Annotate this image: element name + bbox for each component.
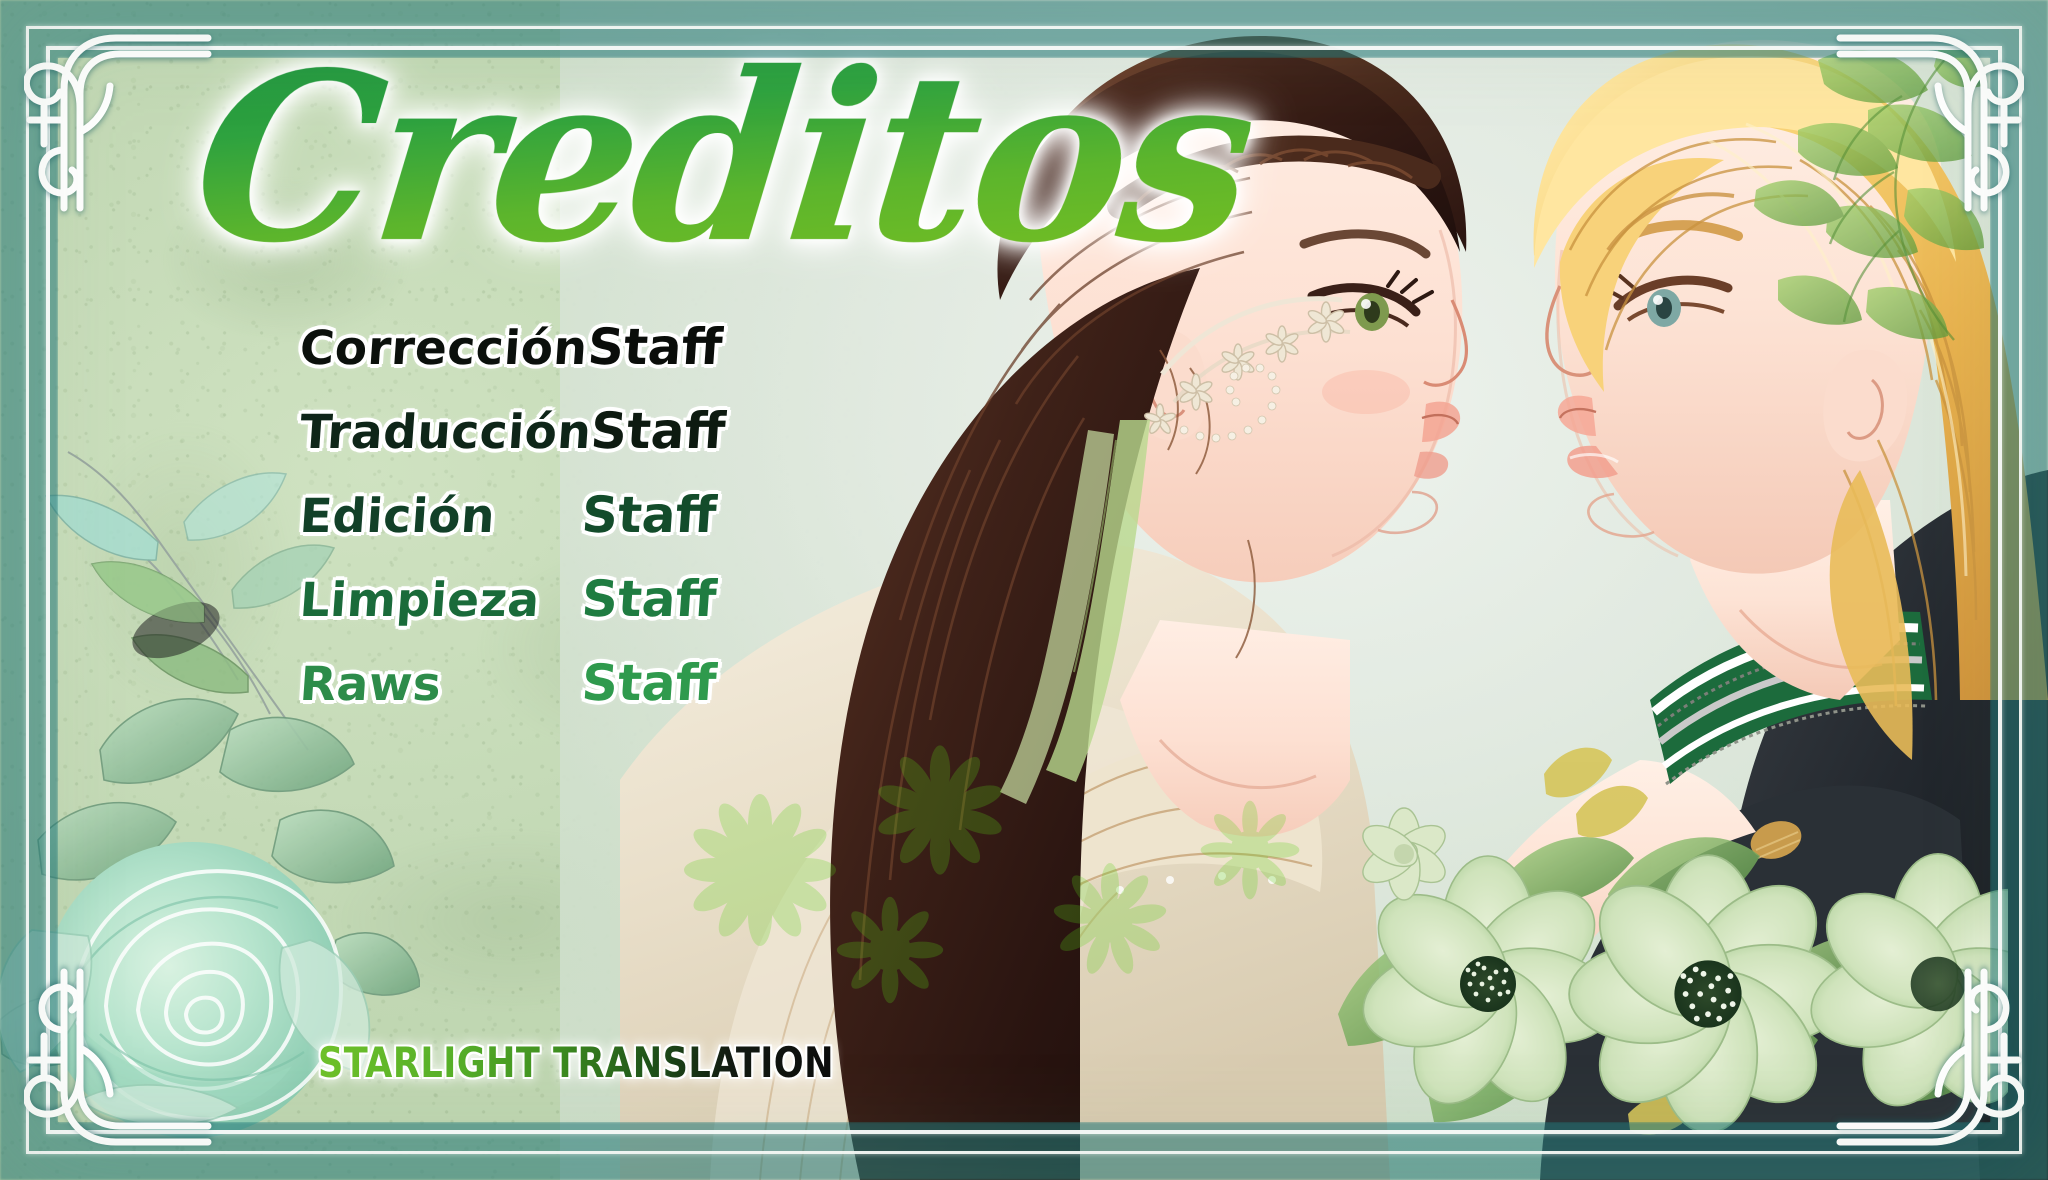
credit-role-value: Staff (580, 658, 718, 708)
credit-row: Traducción Staff (300, 406, 820, 490)
credit-role-label: Edición (298, 493, 583, 540)
credit-role-value: Staff (580, 574, 718, 624)
page-title: Creditos (186, 42, 1260, 274)
credit-role-value: Staff (586, 322, 724, 372)
credit-row: Edición Staff (300, 490, 820, 574)
credit-role-label: Limpieza (298, 577, 583, 624)
credits-page: Creditos Corrección Staff Traducción Sta… (0, 0, 2048, 1180)
credit-role-value: Staff (590, 406, 728, 456)
credit-role-value: Staff (580, 490, 718, 540)
credit-row: Raws Staff (300, 658, 820, 742)
credit-role-label: Traducción (298, 409, 593, 456)
credit-role-label: Raws (298, 661, 583, 708)
scanlation-group-signature: STARLIGHT TRANSLATION (318, 1038, 834, 1087)
credit-row: Limpieza Staff (300, 574, 820, 658)
credit-row: Corrección Staff (300, 322, 820, 406)
credits-list: Corrección Staff Traducción Staff Edició… (300, 322, 820, 742)
credit-role-label: Corrección (298, 325, 589, 372)
